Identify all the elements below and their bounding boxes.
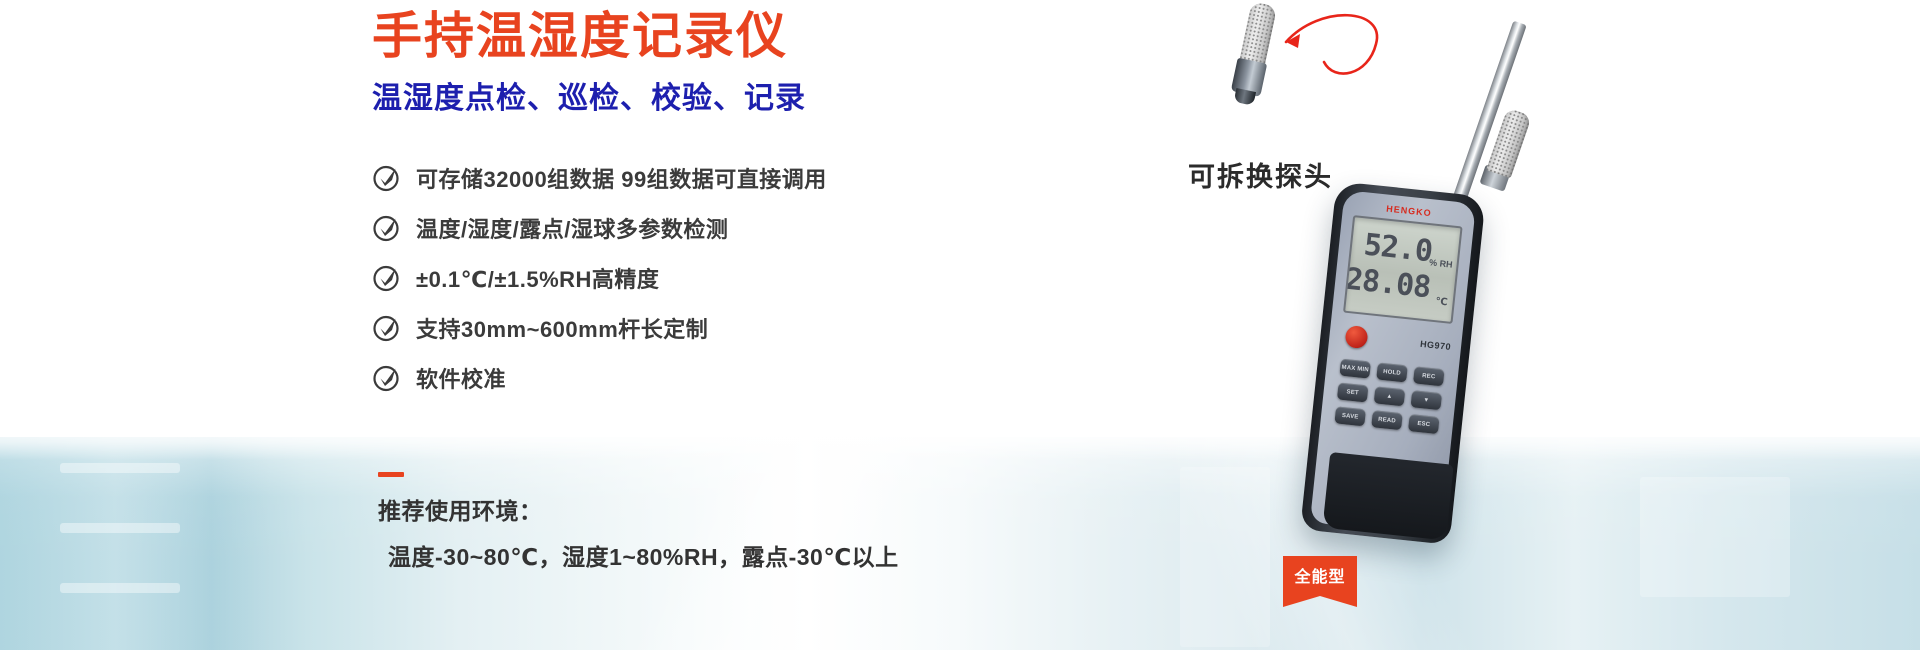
feature-text: 温度/湿度/露点/湿球多参数检测 xyxy=(416,212,728,244)
curved-arrow-icon xyxy=(1268,0,1388,92)
feature-list: 可存储32000组数据 99组数据可直接调用 温度/湿度/露点/湿球多参数检测 … xyxy=(372,155,827,405)
list-item: 支持30mm~600mm杆长定制 xyxy=(372,305,827,351)
badge-label: 全能型 xyxy=(1283,556,1357,596)
key-esc[interactable]: ESC xyxy=(1408,414,1440,434)
bg-shelf-bar xyxy=(60,523,180,533)
check-circle-icon xyxy=(372,363,402,393)
humidity-reading: 52.0 xyxy=(1362,230,1433,267)
probe-connector-tip xyxy=(1234,88,1256,106)
meter-housing: HENGKO 52.0 % RH 28.08 ℃ HG970 MAX MIN H… xyxy=(1300,181,1486,545)
key-hold[interactable]: HOLD xyxy=(1376,362,1408,382)
note-detail: 温度-30~80℃，湿度1~80%RH，露点-30℃以上 xyxy=(378,541,899,573)
background-top-white xyxy=(0,0,1920,440)
key-up[interactable]: ▲ xyxy=(1374,386,1406,406)
check-circle-icon xyxy=(372,263,402,293)
recommended-environment-note: 推荐使用环境： 温度-30~80℃，湿度1~80%RH，露点-30℃以上 xyxy=(378,472,899,573)
list-item: 温度/湿度/露点/湿球多参数检测 xyxy=(372,205,827,251)
feature-text: ±0.1℃/±1.5%RH高精度 xyxy=(416,262,659,294)
page-title: 手持温湿度记录仪 xyxy=(372,6,788,66)
handheld-meter-image: HENGKO 52.0 % RH 28.08 ℃ HG970 MAX MIN H… xyxy=(1300,110,1560,580)
red-dash-divider xyxy=(378,472,404,477)
bg-panel xyxy=(1180,467,1270,647)
key-set[interactable]: SET xyxy=(1337,382,1369,402)
temperature-unit: ℃ xyxy=(1435,296,1448,308)
power-button[interactable] xyxy=(1344,325,1368,349)
key-down[interactable]: ▼ xyxy=(1410,390,1442,410)
humidity-unit: % RH xyxy=(1429,257,1453,269)
feature-text: 可存储32000组数据 99组数据可直接调用 xyxy=(416,162,827,194)
badge-ribbon-tail xyxy=(1283,596,1357,607)
list-item: 可存储32000组数据 99组数据可直接调用 xyxy=(372,155,827,201)
check-circle-icon xyxy=(372,313,402,343)
list-item: 软件校准 xyxy=(372,355,827,401)
meter-lower-grip xyxy=(1322,452,1453,541)
check-circle-icon xyxy=(372,163,402,193)
product-banner: 手持温湿度记录仪 温湿度点检、巡检、校验、记录 可存储32000组数据 99组数… xyxy=(0,0,1920,650)
background-bottom-lab xyxy=(0,437,1920,650)
page-subtitle: 温湿度点检、巡检、校验、记录 xyxy=(372,80,806,118)
key-read[interactable]: READ xyxy=(1371,410,1403,430)
feature-text: 软件校准 xyxy=(416,362,506,394)
bg-shelf-bar xyxy=(60,463,180,473)
feature-text: 支持30mm~600mm杆长定制 xyxy=(416,312,708,344)
lcd-screen: 52.0 % RH 28.08 ℃ xyxy=(1343,215,1463,324)
note-heading: 推荐使用环境： xyxy=(378,495,899,527)
list-item: ±0.1℃/±1.5%RH高精度 xyxy=(372,255,827,301)
key-rec[interactable]: REC xyxy=(1413,366,1445,386)
key-save[interactable]: SAVE xyxy=(1334,406,1366,426)
meter-front-panel: HENGKO 52.0 % RH 28.08 ℃ HG970 MAX MIN H… xyxy=(1310,190,1476,536)
temperature-reading: 28.08 xyxy=(1344,265,1432,304)
bg-shelf-bar xyxy=(60,583,180,593)
status-badge: 全能型 xyxy=(1283,556,1357,607)
key-maxmin[interactable]: MAX MIN xyxy=(1339,359,1371,379)
bg-panel xyxy=(1640,477,1790,597)
check-circle-icon xyxy=(372,213,402,243)
model-number: HG970 xyxy=(1420,339,1452,352)
keypad: MAX MIN HOLD REC SET ▲ ▼ SAVE READ ESC xyxy=(1337,358,1450,370)
